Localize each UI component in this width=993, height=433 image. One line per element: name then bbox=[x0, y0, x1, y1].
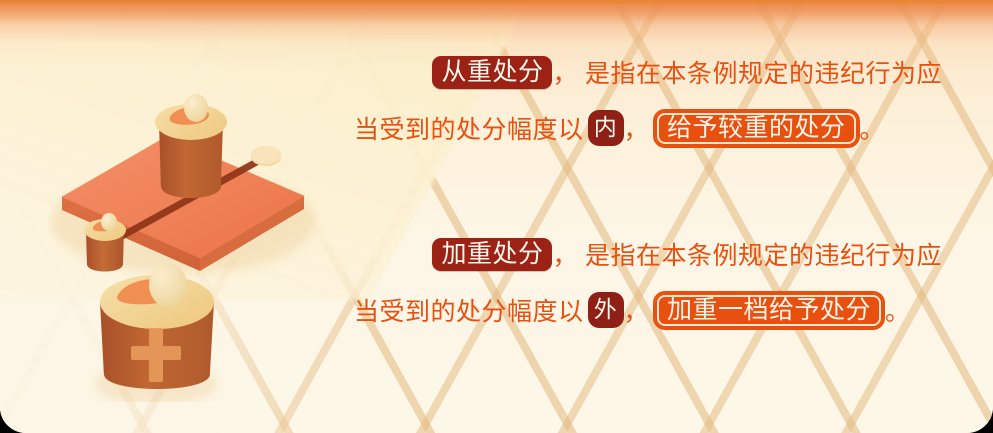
paragraph-2-line-1: 加重处分 ， 是指在本条例规定的违纪行为应 bbox=[352, 226, 952, 282]
comma-after-term-1: ， bbox=[552, 54, 578, 90]
paragraph-1-line-2: 当受到的处分幅度以 内 ， 给予较重的处分 。 bbox=[352, 100, 952, 156]
paragraph-1-line-2-lead: 当受到的处分幅度以 bbox=[354, 110, 584, 146]
period-1: 。 bbox=[860, 110, 886, 146]
scope-badge-nei[interactable]: 内 bbox=[588, 110, 624, 146]
plus-weight bbox=[94, 263, 218, 402]
paragraph-1-line-1: 从重处分 ， 是指在本条例规定的违纪行为应 bbox=[352, 44, 952, 100]
slider-knob bbox=[251, 146, 281, 166]
paragraph-1-line-1-text: 是指在本条例规定的违纪行为应 bbox=[585, 54, 942, 90]
large-weight bbox=[155, 94, 227, 198]
paragraph-2-line-2-lead: 当受到的处分幅度以 bbox=[354, 292, 584, 328]
slide-canvas: 从重处分 ， 是指在本条例规定的违纪行为应 当受到的处分幅度以 内 ， 给予较重… bbox=[0, 0, 993, 433]
term-chip-jiazhongchufen[interactable]: 加重处分 bbox=[432, 238, 552, 271]
paragraph-congzhong: 从重处分 ， 是指在本条例规定的违纪行为应 当受到的处分幅度以 内 ， 给予较重… bbox=[352, 44, 952, 156]
paragraph-jiazhong: 加重处分 ， 是指在本条例规定的违纪行为应 当受到的处分幅度以 外 ， 加重一档… bbox=[352, 226, 952, 338]
scope-badge-wai[interactable]: 外 bbox=[588, 292, 624, 328]
text-column: 从重处分 ， 是指在本条例规定的违纪行为应 当受到的处分幅度以 内 ， 给予较重… bbox=[352, 0, 952, 433]
outcome-box-jiazhongyidanggeiyuchufen[interactable]: 加重一档给予处分 bbox=[653, 291, 885, 330]
comma-after-badge-2: ， bbox=[624, 292, 650, 328]
isometric-weights-illustration bbox=[48, 62, 348, 402]
paragraph-2-line-2: 当受到的处分幅度以 外 ， 加重一档给予处分 。 bbox=[352, 282, 952, 338]
period-2: 。 bbox=[885, 292, 911, 328]
term-chip-congzhongchufen[interactable]: 从重处分 bbox=[432, 56, 552, 89]
outcome-box-geiyujiaozhongdechufen[interactable]: 给予较重的处分 bbox=[653, 109, 860, 148]
comma-after-term-2: ， bbox=[552, 236, 578, 272]
paragraph-2-line-1-text: 是指在本条例规定的违纪行为应 bbox=[585, 236, 942, 272]
comma-after-badge-1: ， bbox=[624, 110, 650, 146]
